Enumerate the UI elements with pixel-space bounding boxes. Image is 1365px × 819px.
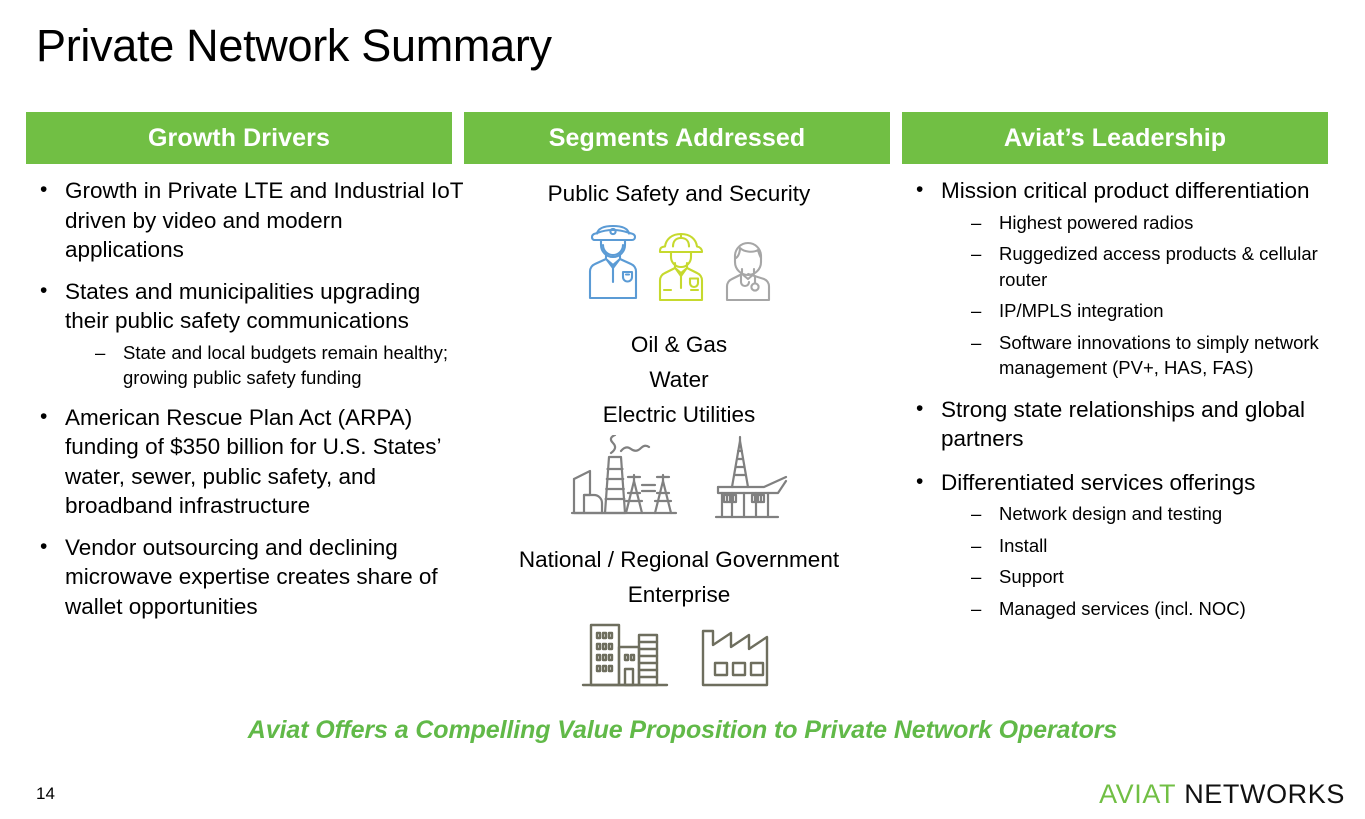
sub-bullet-list: State and local budgets remain healthy; … xyxy=(65,340,466,391)
growth-drivers-bullet-list: Growth in Private LTE and Industrial IoT… xyxy=(26,176,466,621)
segment-label-national-regional-government: National / Regional Government xyxy=(464,542,894,577)
bullet-text: Growth in Private LTE and Industrial IoT… xyxy=(65,176,466,265)
slide-tagline: Aviat Offers a Compelling Value Proposit… xyxy=(0,716,1365,745)
oil-rig-icon xyxy=(710,435,790,528)
sub-bullet-list: Highest powered radios Ruggedized access… xyxy=(941,210,1342,381)
list-item: Mission critical product differentiation… xyxy=(902,176,1342,381)
segment-label-public-safety: Public Safety and Security xyxy=(464,176,894,211)
sub-list-item: Network design and testing xyxy=(941,501,1342,527)
sub-list-item: Software innovations to simply network m… xyxy=(941,330,1342,381)
column-header-aviats-leadership-label: Aviat’s Leadership xyxy=(1004,124,1226,153)
police-officer-icon xyxy=(576,220,650,309)
sub-list-item: Managed services (incl. NOC) xyxy=(941,596,1342,622)
segment-label-water: Water xyxy=(464,362,894,397)
bullet-text: Mission critical product differentiation xyxy=(941,176,1342,206)
leadership-bullet-list: Mission critical product differentiation… xyxy=(902,176,1342,621)
sub-list-item: State and local budgets remain healthy; … xyxy=(65,340,466,391)
segment-label-oil-gas: Oil & Gas xyxy=(464,327,894,362)
column-header-segments-addressed: Segments Addressed xyxy=(464,112,890,164)
bullet-text: Vendor outsourcing and declining microwa… xyxy=(65,533,466,622)
column-header-growth-drivers-label: Growth Drivers xyxy=(148,124,330,153)
list-item: Growth in Private LTE and Industrial IoT… xyxy=(26,176,466,265)
sub-bullet-list: Network design and testing Install Suppo… xyxy=(941,501,1342,621)
enterprise-icon-row xyxy=(464,618,894,698)
slide-canvas: Private Network Summary Growth Drivers S… xyxy=(0,0,1365,819)
bullet-text: Differentiated services offerings xyxy=(941,468,1342,498)
city-buildings-icon xyxy=(577,617,673,698)
bullet-text: American Rescue Plan Act (ARPA) funding … xyxy=(65,403,466,521)
growth-drivers-column: Growth in Private LTE and Industrial IoT… xyxy=(26,176,466,633)
segments-addressed-column: Public Safety and Security xyxy=(464,176,894,698)
bullet-text: States and municipalities upgrading thei… xyxy=(65,277,466,336)
aviat-networks-logo: AVIAT NETWORKS xyxy=(1099,779,1345,810)
public-safety-icon-row xyxy=(464,217,894,309)
aviats-leadership-column: Mission critical product differentiation… xyxy=(902,176,1342,631)
segment-label-enterprise: Enterprise xyxy=(464,577,894,612)
industrial-icon-row xyxy=(464,436,894,528)
logo-networks-text: NETWORKS xyxy=(1184,779,1345,809)
list-item: Vendor outsourcing and declining microwa… xyxy=(26,533,466,622)
list-item: States and municipalities upgrading thei… xyxy=(26,277,466,391)
factory-icon xyxy=(695,617,781,698)
power-plant-icon xyxy=(568,435,696,528)
sub-list-item: IP/MPLS integration xyxy=(941,298,1342,324)
sub-list-item: Highest powered radios xyxy=(941,210,1342,236)
column-header-segments-addressed-label: Segments Addressed xyxy=(549,124,806,153)
page-number: 14 xyxy=(36,784,55,804)
nurse-icon xyxy=(714,234,782,309)
column-header-aviats-leadership: Aviat’s Leadership xyxy=(902,112,1328,164)
logo-aviat-text: AVIAT xyxy=(1099,779,1176,809)
firefighter-icon xyxy=(646,228,716,309)
segment-label-electric-utilities: Electric Utilities xyxy=(464,397,894,432)
sub-list-item: Ruggedized access products & cellular ro… xyxy=(941,241,1342,292)
list-item: Strong state relationships and global pa… xyxy=(902,395,1342,454)
page-title: Private Network Summary xyxy=(36,22,552,69)
column-header-growth-drivers: Growth Drivers xyxy=(26,112,452,164)
sub-list-item: Support xyxy=(941,564,1342,590)
bullet-text: Strong state relationships and global pa… xyxy=(941,395,1342,454)
list-item: American Rescue Plan Act (ARPA) funding … xyxy=(26,403,466,521)
list-item: Differentiated services offerings Networ… xyxy=(902,468,1342,622)
sub-list-item: Install xyxy=(941,533,1342,559)
